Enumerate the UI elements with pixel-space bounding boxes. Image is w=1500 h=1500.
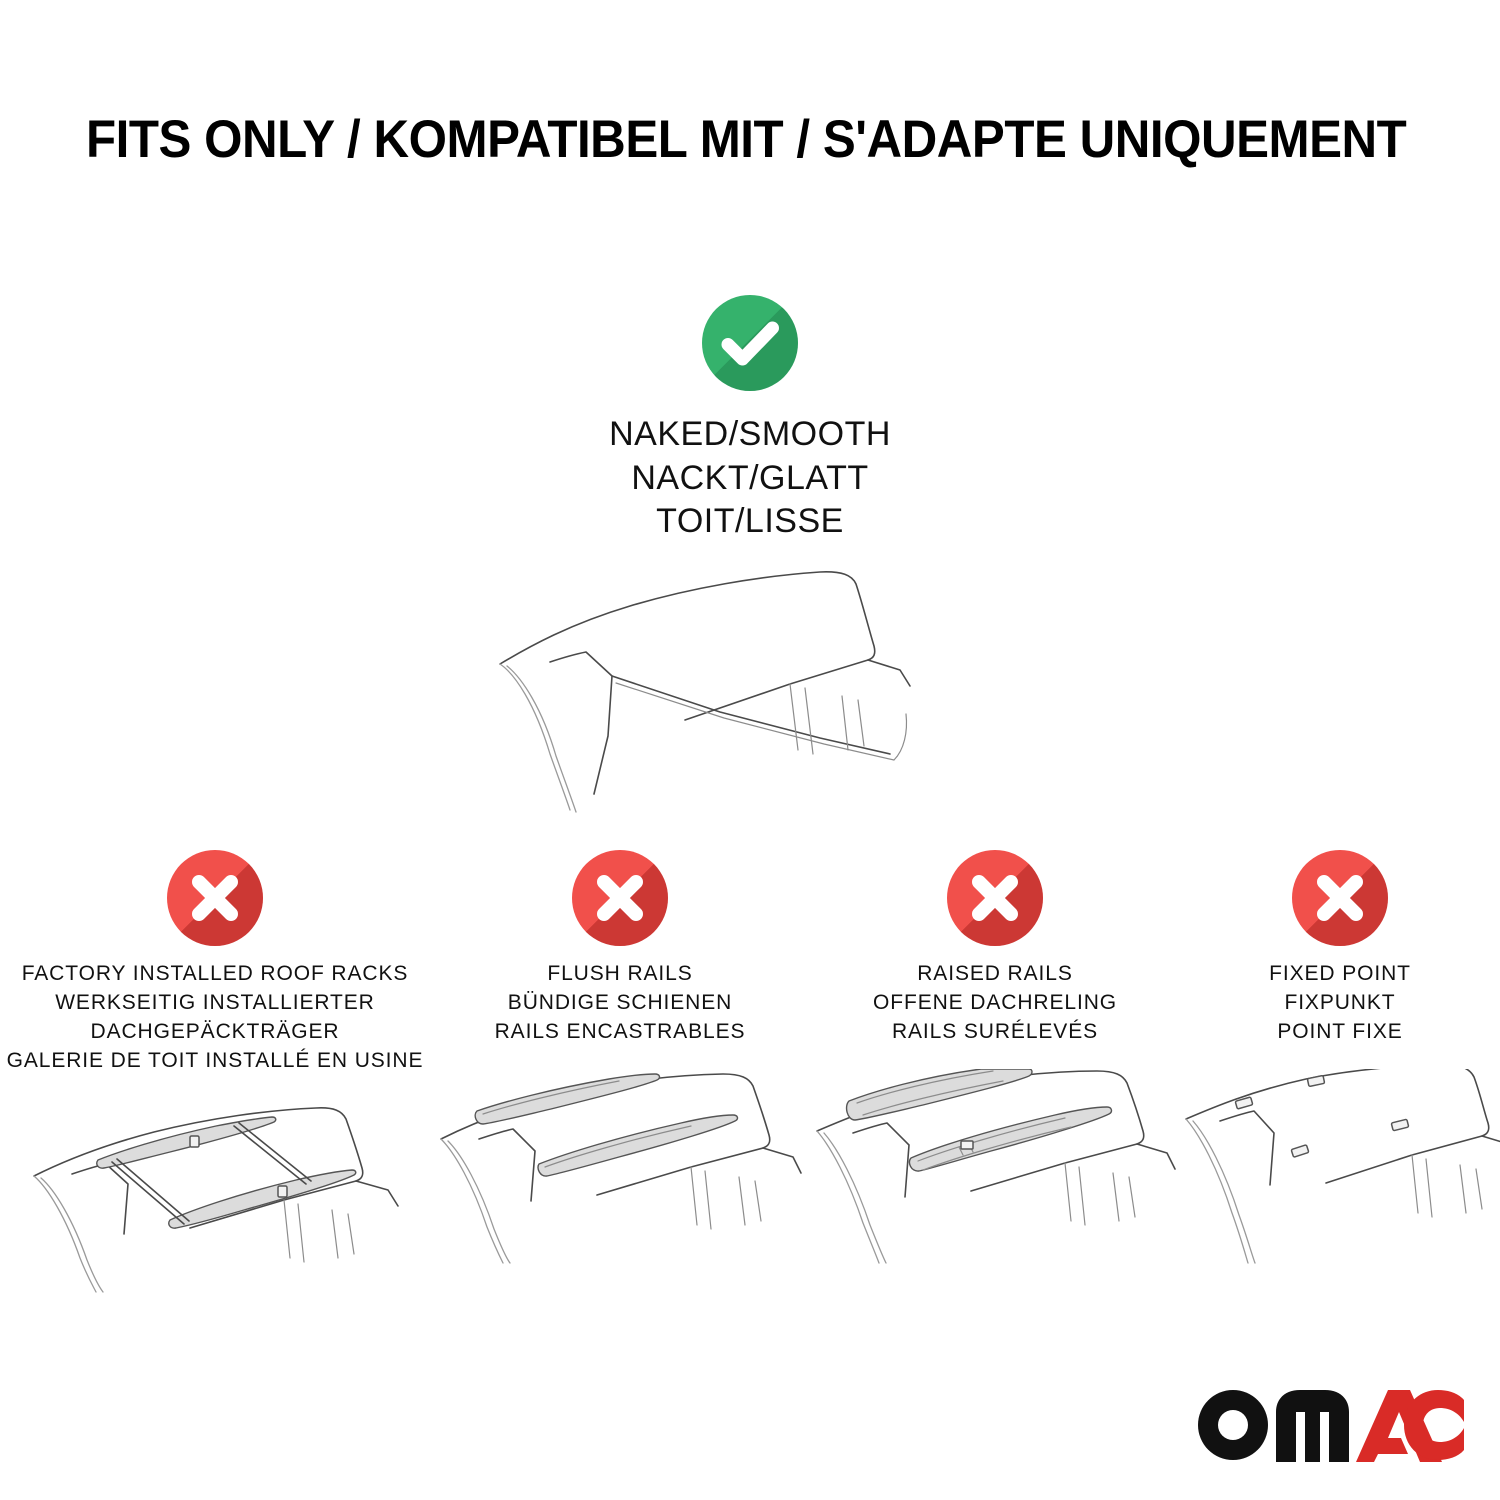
incompatible-label: RAISED RAILS OFFENE DACHRELING RAILS SUR… [873, 960, 1117, 1047]
car-roof-raised-rails-illustration [811, 1069, 1179, 1264]
incompatible-label: FIXED POINT FIXPUNKT POINT FIXE [1269, 960, 1411, 1047]
incompatible-item-flush-rails: FLUSH RAILS BÜNDIGE SCHIENEN RAILS ENCAS… [430, 850, 810, 1264]
incompatible-item-fixed-point: FIXED POINT FIXPUNKT POINT FIXE [1180, 850, 1500, 1264]
label-line-2: BÜNDIGE SCHIENEN [495, 989, 746, 1018]
label-line-3: DACHGEPÄCKTRÄGER [7, 1018, 424, 1047]
car-roof-factory-rack-illustration [20, 1098, 410, 1293]
label-line-2: OFFENE DACHRELING [873, 989, 1117, 1018]
x-circle-icon [1292, 850, 1388, 946]
label-line-2: WERKSEITIG INSTALLIERTER [7, 989, 424, 1018]
label-line-1: FIXED POINT [1269, 960, 1411, 989]
omac-logo [1196, 1388, 1464, 1462]
car-roof-fixed-point-illustration [1180, 1069, 1500, 1264]
x-circle-icon [167, 850, 263, 946]
incompatible-label: FLUSH RAILS BÜNDIGE SCHIENEN RAILS ENCAS… [495, 960, 746, 1047]
car-roof-naked-smooth-illustration [490, 554, 1010, 814]
label-line-1: FACTORY INSTALLED ROOF RACKS [7, 960, 424, 989]
check-glyph [702, 295, 798, 391]
x-circle-icon [947, 850, 1043, 946]
compatible-section: NAKED/SMOOTH NACKT/GLATT TOIT/LISSE [0, 295, 1500, 814]
check-circle-icon [702, 295, 798, 391]
car-roof-flush-rails-illustration [433, 1069, 808, 1264]
label-line-3: RAILS SURÉLEVÉS [873, 1018, 1117, 1047]
compatible-label-line-3: TOIT/LISSE [609, 500, 891, 544]
page-title: FITS ONLY / KOMPATIBEL MIT / S'ADAPTE UN… [86, 110, 1323, 169]
fitment-chart: FITS ONLY / KOMPATIBEL MIT / S'ADAPTE UN… [0, 0, 1500, 1500]
label-line-1: FLUSH RAILS [495, 960, 746, 989]
incompatible-item-raised-rails: RAISED RAILS OFFENE DACHRELING RAILS SUR… [810, 850, 1180, 1264]
label-line-4: GALERIE DE TOIT INSTALLÉ EN USINE [7, 1047, 424, 1076]
x-glyph [1292, 850, 1388, 946]
incompatible-section: FACTORY INSTALLED ROOF RACKS WERKSEITIG … [0, 850, 1500, 1293]
compatible-label-line-1: NAKED/SMOOTH [609, 413, 891, 457]
label-line-1: RAISED RAILS [873, 960, 1117, 989]
incompatible-item-factory-rack: FACTORY INSTALLED ROOF RACKS WERKSEITIG … [0, 850, 430, 1293]
compatible-label: NAKED/SMOOTH NACKT/GLATT TOIT/LISSE [609, 413, 891, 544]
label-line-2: FIXPUNKT [1269, 989, 1411, 1018]
label-line-3: POINT FIXE [1269, 1018, 1411, 1047]
x-glyph [947, 850, 1043, 946]
x-circle-icon [572, 850, 668, 946]
omac-logo-mark [1196, 1388, 1464, 1462]
x-glyph [572, 850, 668, 946]
label-line-3: RAILS ENCASTRABLES [495, 1018, 746, 1047]
incompatible-label: FACTORY INSTALLED ROOF RACKS WERKSEITIG … [7, 960, 424, 1076]
compatible-label-line-2: NACKT/GLATT [609, 457, 891, 501]
x-glyph [167, 850, 263, 946]
